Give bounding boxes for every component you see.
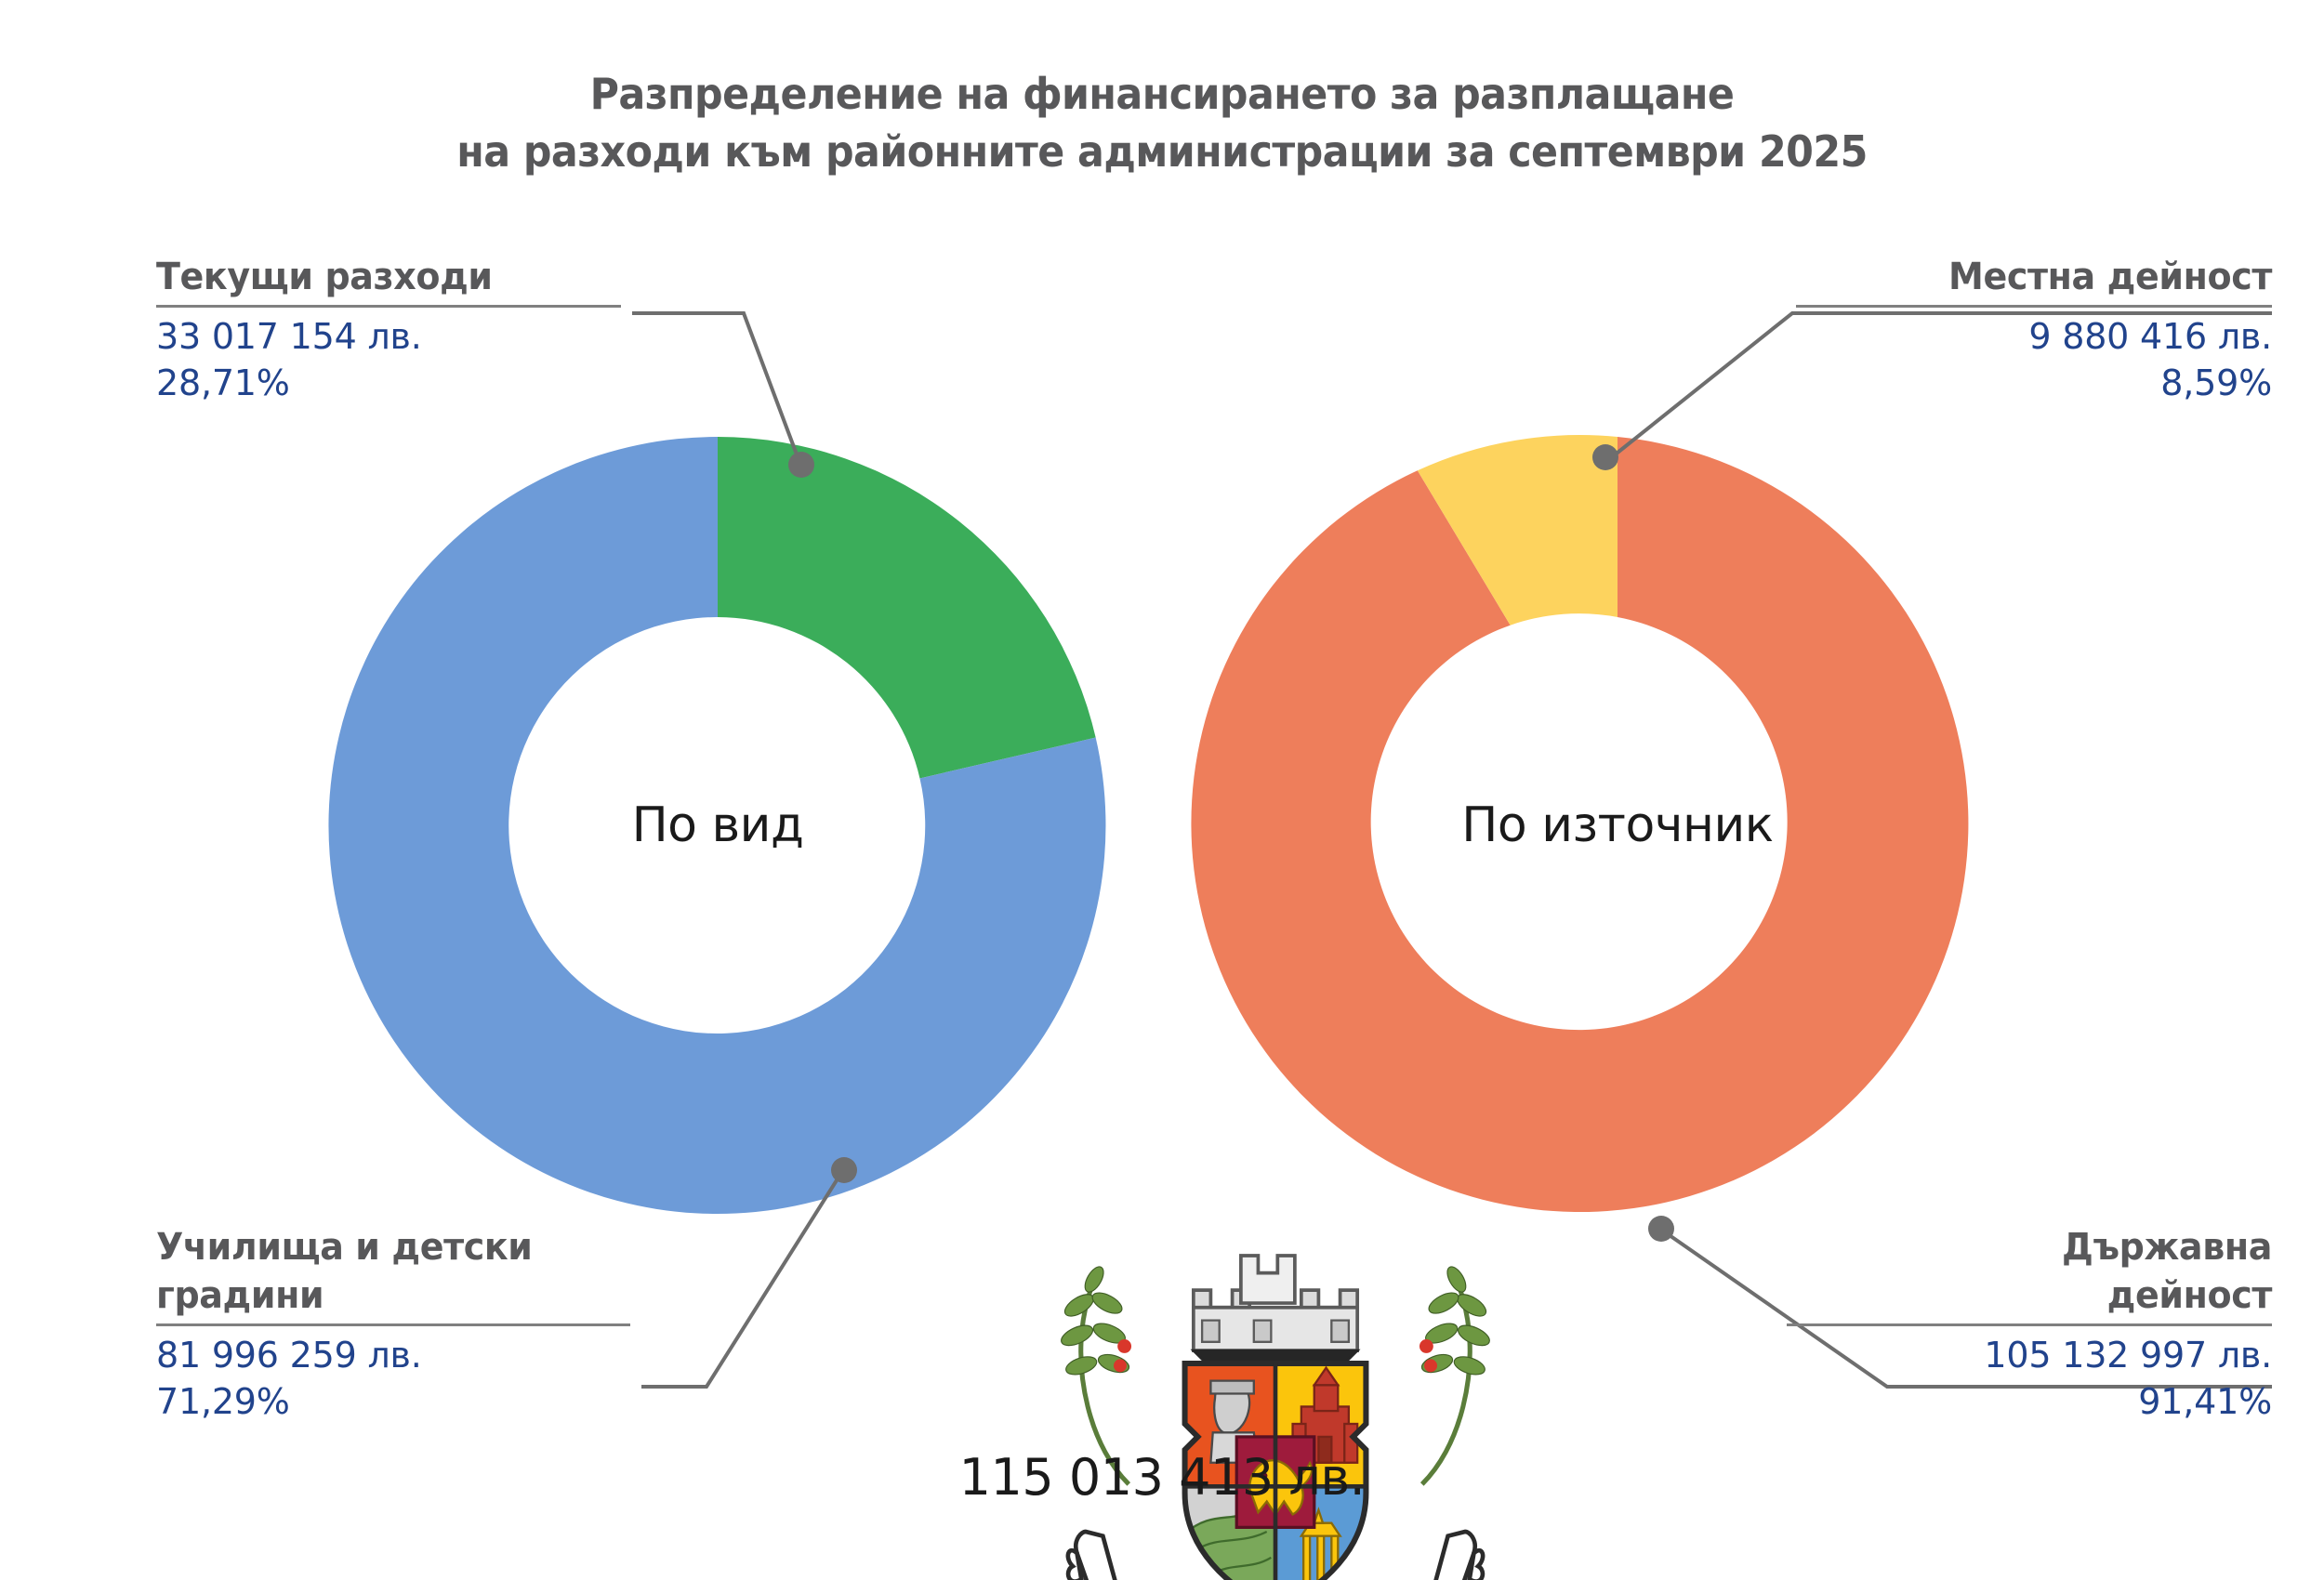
mural-crown-icon (1194, 1256, 1357, 1350)
total-amount: 115 013 413 лв. (0, 1448, 2324, 1507)
sofia-coat-of-arms-icon: РАСТЕ НО НЕ СТАРЕЕ (0, 0, 2324, 1580)
